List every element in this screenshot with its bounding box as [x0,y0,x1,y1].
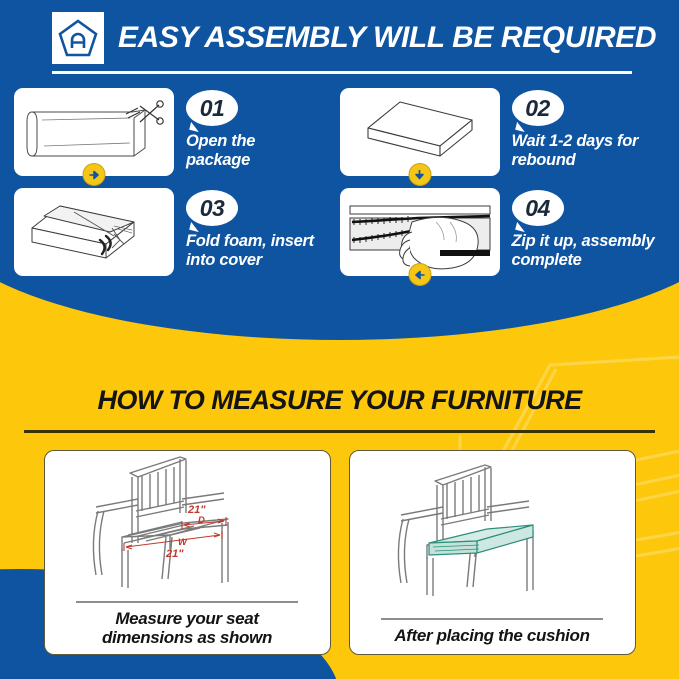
dim-depth-label: D [198,515,205,526]
measure-card-2-caption-line1: After placing the cushion [394,626,589,645]
measure-card-1-caption-line2: dimensions as shown [102,628,272,647]
step-02-number-badge: 02 [512,90,564,126]
step-01-image-wrap [14,88,174,176]
step-03-label-line2: into cover [186,251,340,270]
measure-card-1-caption: Measure your seat dimensions as shown [94,603,280,655]
step-item-04: 04 Zip it up, assembly complete [340,188,666,276]
measure-card-cushion: After placing the cushion [349,450,636,655]
infographic-poster: EASY ASSEMBLY WILL BE REQUIRED [0,0,679,679]
measure-cards: 21" D W 21" Measure your seat dimensions… [0,450,679,655]
step-02-arrow-badge [408,163,431,186]
step-04-number-badge: 04 [512,190,564,226]
house-pentagon-icon [57,17,99,59]
arrow-right-icon [88,169,100,181]
measure-card-1-caption-line1: Measure your seat [102,609,272,628]
chair-with-cushion-illustration [367,459,617,609]
arrow-left-icon [414,269,426,281]
step-04-label: Zip it up, assembly complete [512,232,666,269]
header: EASY ASSEMBLY WILL BE REQUIRED [0,0,679,64]
step-03-image-wrap [14,188,174,276]
step-03-number-badge: 03 [186,190,238,226]
step-01-label-line1: Open the [186,132,340,151]
step-02-label: Wait 1-2 days for rebound [512,132,666,169]
step-01-text: 01 Open the package [186,88,340,169]
logo-box [52,12,104,64]
step-04-label-line2: complete [512,251,666,270]
measure-card-dimensions: 21" D W 21" Measure your seat dimensions… [44,450,331,655]
step-04-arrow-badge [408,263,431,286]
measure-card-1-art: 21" D W 21" [45,451,330,601]
page-title: EASY ASSEMBLY WILL BE REQUIRED [118,21,656,55]
step-01-label-line2: package [186,151,340,170]
step-02-text: 02 Wait 1-2 days for rebound [512,88,666,169]
measure-section-title: HOW TO MEASURE YOUR FURNITURE [0,385,679,416]
step-02-label-line1: Wait 1-2 days for [512,132,666,151]
header-divider [52,71,632,74]
step-03-illustration-card [14,188,174,276]
measure-card-2-art [350,451,635,618]
step-03-label: Fold foam, insert into cover [186,232,340,269]
step-item-02: 02 Wait 1-2 days for rebound [340,88,666,176]
step-01-number-badge: 01 [186,90,238,126]
measure-section-divider [24,430,655,433]
folding-foam-into-cover-illustration [14,188,174,276]
step-01-arrow-badge [83,163,106,186]
step-02-label-line2: rebound [512,151,666,170]
dim-width-label: W [178,537,188,548]
step-04-image-wrap [340,188,500,276]
step-04-text: 04 Zip it up, assembly complete [512,188,666,269]
step-item-03: 03 Fold foam, insert into cover [14,188,340,276]
step-02-image-wrap [340,88,500,176]
step-01-label: Open the package [186,132,340,169]
step-03-text: 03 Fold foam, insert into cover [186,188,340,269]
arrow-down-icon [414,169,426,181]
measure-card-2-caption: After placing the cushion [386,620,597,654]
step-04-label-line1: Zip it up, assembly [512,232,666,251]
step-03-label-line1: Fold foam, insert [186,232,340,251]
chair-with-dimensions-illustration: 21" D W 21" [62,451,312,601]
step-item-01: 01 Open the package [14,88,340,176]
assembly-steps-grid: 01 Open the package [0,88,679,276]
dim-width-value: 21" [165,548,184,560]
